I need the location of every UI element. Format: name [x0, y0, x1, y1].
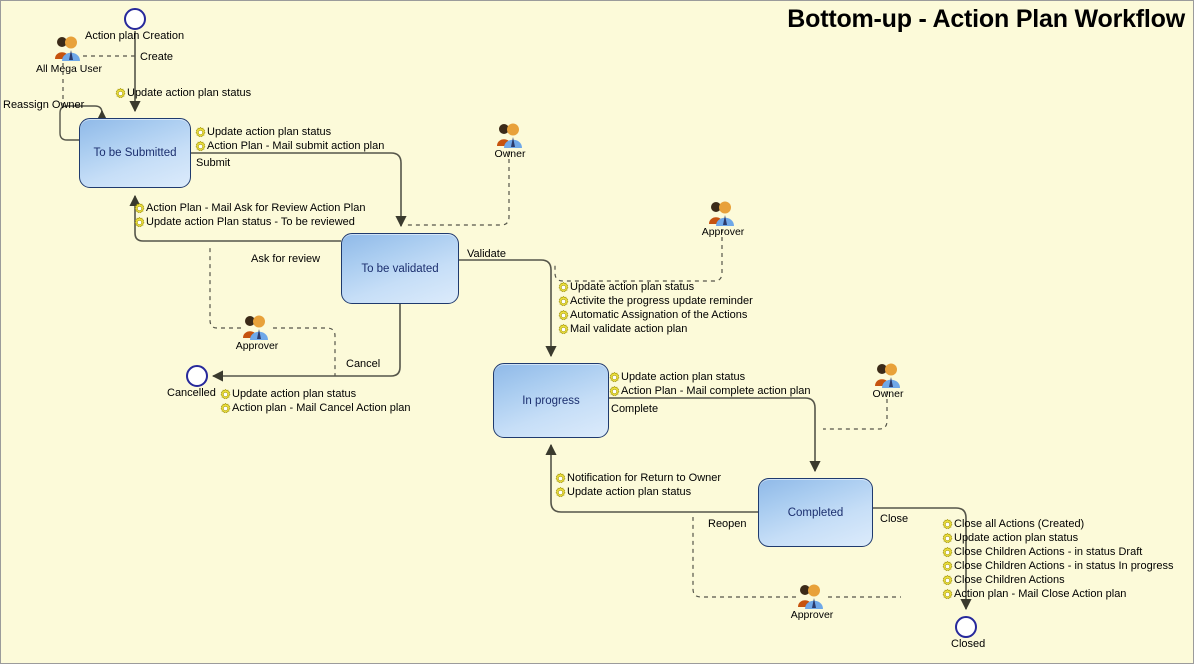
- transition-label-complete: Complete: [611, 403, 658, 415]
- action-list-cancel: Update action plan statusAction plan - M…: [220, 387, 411, 415]
- action-item-label: Close Children Actions: [954, 574, 1065, 586]
- action-item-label: Close all Actions (Created): [954, 518, 1084, 530]
- action-item: Update action plan status: [115, 86, 251, 100]
- gear-icon: [942, 533, 953, 544]
- state-label: To be Submitted: [93, 147, 176, 159]
- transition-label-cancel: Cancel: [346, 358, 380, 370]
- action-list-reopen: Notification for Return to OwnerUpdate a…: [555, 471, 721, 499]
- actor-label-owner-right: Owner: [858, 388, 918, 400]
- action-list-create: Update action plan status: [115, 86, 251, 100]
- end-node-closed-icon[interactable]: [955, 616, 977, 638]
- action-item-label: Close Children Actions - in status In pr…: [954, 560, 1174, 572]
- transition-label-action-plan-creation: Action plan Creation: [85, 30, 184, 42]
- action-item: Mail validate action plan: [558, 322, 753, 336]
- gear-icon: [942, 519, 953, 530]
- action-list-validate: Update action plan statusActivite the pr…: [558, 280, 753, 336]
- action-item: Close Children Actions: [942, 573, 1174, 587]
- user-group-icon-approver-bottom[interactable]: [796, 582, 826, 609]
- assoc-approver-left-review: [210, 246, 241, 328]
- state-label: Completed: [788, 507, 844, 519]
- action-item-label: Update action Plan status - To be review…: [146, 216, 355, 228]
- action-item: Update action plan status: [558, 280, 753, 294]
- end-node-cancelled-icon[interactable]: [186, 365, 208, 387]
- gear-icon: [558, 296, 569, 307]
- action-item-label: Action plan - Mail Close Action plan: [954, 588, 1126, 600]
- action-item-label: Action plan - Mail Cancel Action plan: [232, 402, 411, 414]
- gear-icon: [558, 324, 569, 335]
- action-item-label: Update action plan status: [954, 532, 1078, 544]
- action-item-label: Update action plan status: [207, 126, 331, 138]
- user-group-icon-all-mega-user[interactable]: [53, 34, 83, 61]
- gear-icon: [558, 310, 569, 321]
- transition-label-submit: Submit: [196, 157, 230, 169]
- state-completed[interactable]: Completed: [758, 478, 873, 547]
- action-item-label: Update action plan status: [232, 388, 356, 400]
- state-in-progress[interactable]: In progress: [493, 363, 609, 438]
- action-item: Action Plan - Mail submit action plan: [195, 139, 384, 153]
- action-item: Close Children Actions - in status In pr…: [942, 559, 1174, 573]
- node-label-closed: Closed: [951, 638, 985, 650]
- user-group-icon-approver-left[interactable]: [241, 313, 271, 340]
- action-item: Close all Actions (Created): [942, 517, 1174, 531]
- action-item: Update action plan status: [220, 387, 411, 401]
- state-label: To be validated: [361, 263, 438, 275]
- gear-icon: [942, 561, 953, 572]
- gear-icon: [195, 127, 206, 138]
- action-item-label: Action Plan - Mail submit action plan: [207, 140, 384, 152]
- gear-icon: [134, 203, 145, 214]
- user-group-icon-approver-top[interactable]: [707, 199, 737, 226]
- gear-icon: [558, 282, 569, 293]
- actor-label-approver-left: Approver: [224, 340, 290, 352]
- actor-label-all-mega-user: All Mega User: [29, 63, 109, 75]
- gear-icon: [609, 386, 620, 397]
- action-item: Close Children Actions - in status Draft: [942, 545, 1174, 559]
- action-item: Automatic Assignation of the Actions: [558, 308, 753, 322]
- action-item: Action Plan - Mail complete action plan: [609, 384, 811, 398]
- action-item-label: Update action plan status: [127, 87, 251, 99]
- action-list-close: Close all Actions (Created)Update action…: [942, 517, 1174, 601]
- action-item-label: Update action plan status: [567, 486, 691, 498]
- transition-label-create: Create: [140, 51, 173, 63]
- node-label-cancelled: Cancelled: [167, 387, 216, 399]
- user-group-icon-owner-top[interactable]: [495, 121, 525, 148]
- action-item: Update action plan status: [195, 125, 384, 139]
- gear-icon: [220, 389, 231, 400]
- start-node-icon[interactable]: [124, 8, 146, 30]
- gear-icon: [555, 487, 566, 498]
- page-title: Bottom-up - Action Plan Workflow: [787, 5, 1185, 34]
- action-item-label: Update action plan status: [621, 371, 745, 383]
- action-item-label: Update action plan status: [570, 281, 694, 293]
- action-item: Activite the progress update reminder: [558, 294, 753, 308]
- gear-icon: [555, 473, 566, 484]
- action-item-label: Action Plan - Mail complete action plan: [621, 385, 811, 397]
- action-item-label: Action Plan - Mail Ask for Review Action…: [146, 202, 365, 214]
- action-item-label: Notification for Return to Owner: [567, 472, 721, 484]
- transition-label-reopen: Reopen: [708, 518, 747, 530]
- state-label: In progress: [522, 395, 580, 407]
- action-item: Action plan - Mail Close Action plan: [942, 587, 1174, 601]
- actor-label-owner-top: Owner: [480, 148, 540, 160]
- gear-icon: [195, 141, 206, 152]
- action-item: Notification for Return to Owner: [555, 471, 721, 485]
- workflow-diagram-canvas: Bottom-up - Action Plan Workflow To be S…: [0, 0, 1194, 664]
- action-item-label: Close Children Actions - in status Draft: [954, 546, 1142, 558]
- transition-label-reassign-owner: Reassign Owner: [3, 99, 84, 111]
- action-list-ask-for-review: Action Plan - Mail Ask for Review Action…: [134, 201, 365, 229]
- action-item: Action plan - Mail Cancel Action plan: [220, 401, 411, 415]
- gear-icon: [942, 547, 953, 558]
- action-list-submit: Update action plan statusAction Plan - M…: [195, 125, 384, 153]
- gear-icon: [115, 88, 126, 99]
- action-item-label: Activite the progress update reminder: [570, 295, 753, 307]
- transition-label-validate: Validate: [467, 248, 506, 260]
- action-list-complete: Update action plan statusAction Plan - M…: [609, 370, 811, 398]
- action-item: Update action Plan status - To be review…: [134, 215, 365, 229]
- state-to-be-validated[interactable]: To be validated: [341, 233, 459, 304]
- action-item-label: Automatic Assignation of the Actions: [570, 309, 747, 321]
- gear-icon: [942, 589, 953, 600]
- actor-label-approver-bottom: Approver: [779, 609, 845, 621]
- action-item: Update action plan status: [609, 370, 811, 384]
- action-item-label: Mail validate action plan: [570, 323, 687, 335]
- action-item: Update action plan status: [555, 485, 721, 499]
- actor-label-approver-top: Approver: [690, 226, 756, 238]
- edge-validate: [459, 260, 551, 356]
- transition-label-close: Close: [880, 513, 908, 525]
- user-group-icon-owner-right[interactable]: [873, 361, 903, 388]
- gear-icon: [134, 217, 145, 228]
- gear-icon: [609, 372, 620, 383]
- gear-icon: [220, 403, 231, 414]
- transition-label-ask-for-review: Ask for review: [251, 253, 320, 265]
- assoc-owner-top-submit: [406, 151, 509, 225]
- action-item: Action Plan - Mail Ask for Review Action…: [134, 201, 365, 215]
- state-to-be-submitted[interactable]: To be Submitted: [79, 118, 191, 188]
- assoc-approver-left-cancel: [273, 328, 335, 376]
- action-item: Update action plan status: [942, 531, 1174, 545]
- gear-icon: [942, 575, 953, 586]
